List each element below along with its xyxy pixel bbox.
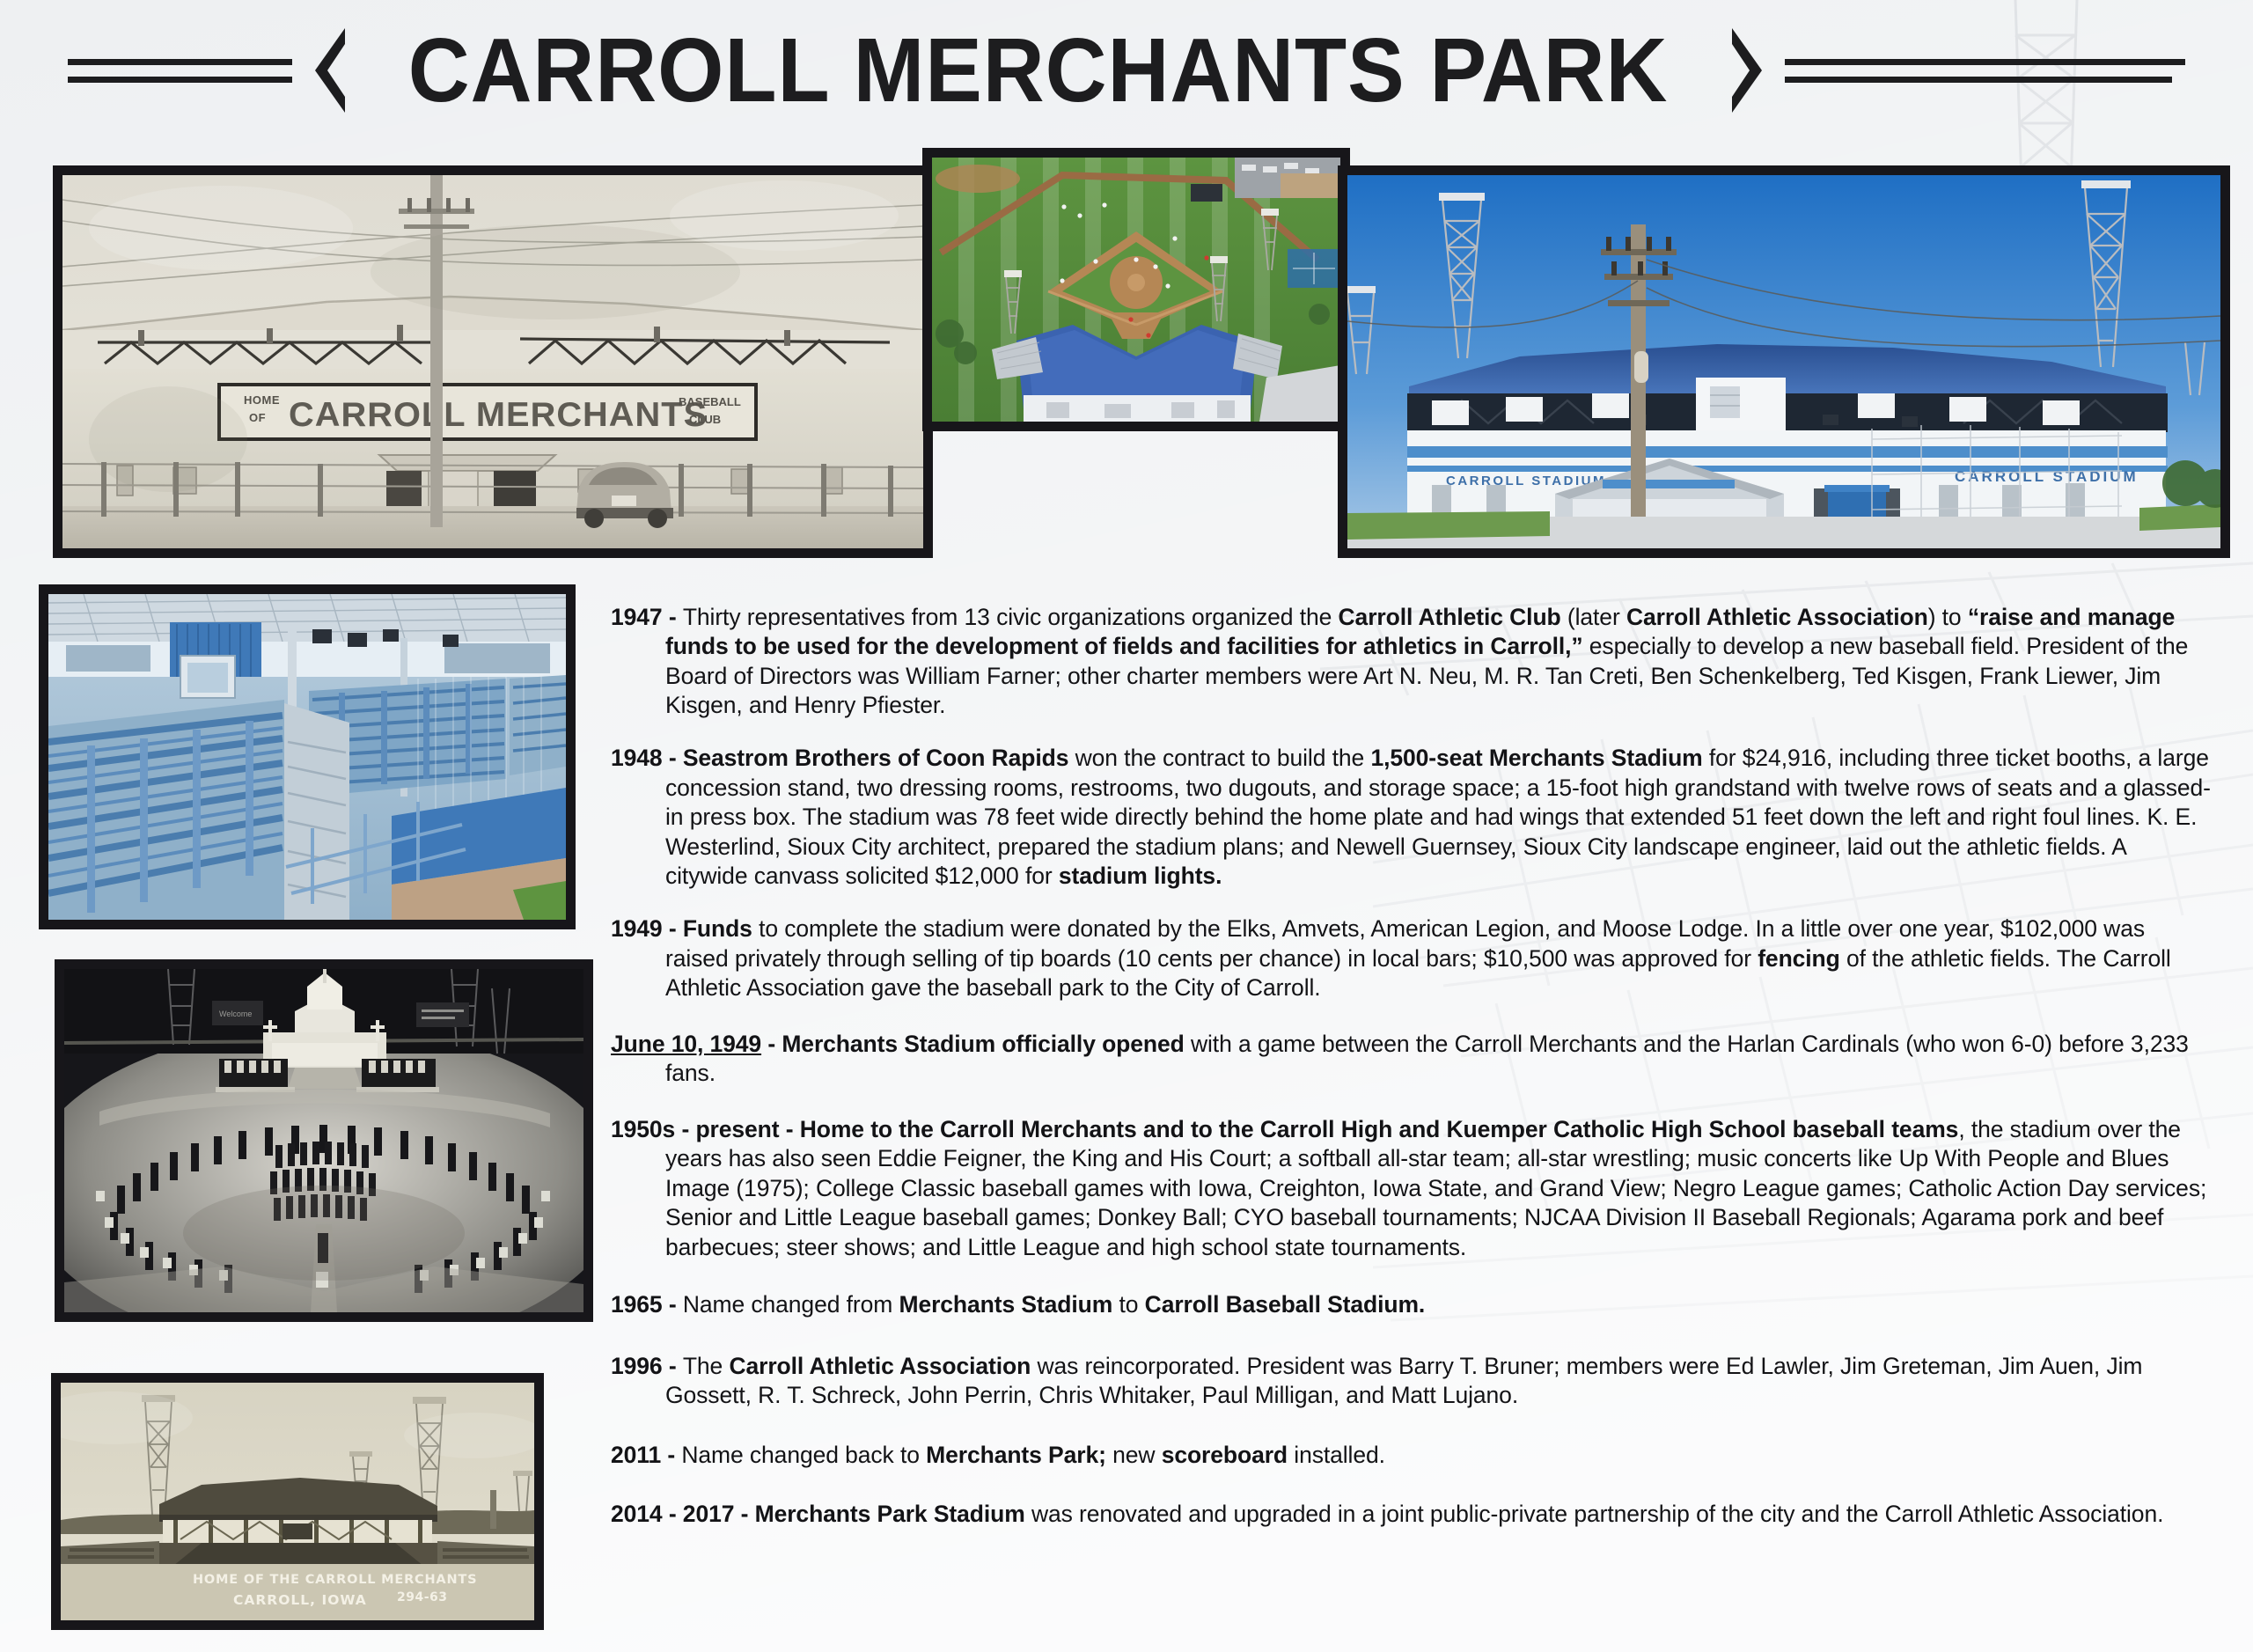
header-rule-right-top <box>1785 59 2185 65</box>
photo-aerial-ballpark-view <box>922 148 1350 431</box>
timeline-entry-1965: 1965 - Name changed from Merchants Stadi… <box>611 1290 2213 1320</box>
timeline-text-column: 1947 - Thirty representatives from 13 ci… <box>611 579 2213 1549</box>
timeline-entry-1996: 1996 - The Carroll Athletic Association … <box>611 1352 2213 1411</box>
postcard-handwriting-number: 294-63 <box>397 1590 448 1604</box>
photo-image-postcard-grandstand: HOME OF THE CARROLL MERCHANTS CARROLL, I… <box>61 1383 534 1620</box>
photo-historic-grandstand-exterior: HOME OF CARROLL MERCHANTS BASEBALL CLUB <box>53 165 933 558</box>
header-rule-left-top <box>68 59 292 65</box>
timeline-entry-2014-2017: 2014 - 2017 - Merchants Park Stadium was… <box>611 1500 2213 1530</box>
timeline-entry-1947: 1947 - Thirty representatives from 13 ci… <box>611 603 2213 721</box>
svg-text:OF: OF <box>249 411 266 424</box>
photo-image-carroll-stadium: CARROLL STADIUM CARROLL STADIUM <box>1347 175 2220 548</box>
photo-image-aerial-ballpark <box>932 158 1340 422</box>
header-rule-right <box>1785 59 2185 83</box>
timeline-entry-june-10-1949: June 10, 1949 - Merchants Stadium offici… <box>611 1030 2213 1089</box>
svg-text:CLUB: CLUB <box>689 413 721 426</box>
svg-text:Welcome: Welcome <box>219 1010 252 1018</box>
chevron-right-icon <box>1732 28 1762 113</box>
photo-catholic-action-day-ceremony: Welcome <box>55 959 593 1322</box>
photo-image-historic-grandstand: HOME OF CARROLL MERCHANTS BASEBALL CLUB <box>62 175 923 548</box>
postcard-handwriting-line1: HOME OF THE CARROLL MERCHANTS <box>193 1573 477 1587</box>
timeline-entry-1949: 1949 - Funds to complete the stadium wer… <box>611 914 2213 1003</box>
header-rule-right-bottom <box>1785 77 2172 83</box>
page-header: CARROLL MERCHANTS PARK <box>0 0 2253 141</box>
timeline-entry-2011: 2011 - Name changed back to Merchants Pa… <box>611 1441 2213 1471</box>
photo-historic-grandstand-postcard: HOME OF THE CARROLL MERCHANTS CARROLL, I… <box>51 1373 544 1630</box>
photo-blue-bleachers-interior <box>39 584 576 929</box>
timeline-entry-1948: 1948 - Seastrom Brothers of Coon Rapids … <box>611 744 2213 892</box>
svg-text:HOME: HOME <box>244 393 280 407</box>
timeline-entry-1950s-present: 1950s - present - Home to the Carroll Me… <box>611 1115 2213 1263</box>
photo-image-blue-bleachers <box>48 594 566 920</box>
photo-carroll-stadium-exterior: CARROLL STADIUM CARROLL STADIUM <box>1338 165 2230 558</box>
header-rule-left-bottom <box>68 77 292 83</box>
postcard-handwriting-line2: CARROLL, IOWA <box>233 1592 367 1608</box>
photo-image-night-ceremony: Welcome <box>64 969 583 1312</box>
svg-text:CARROLL MERCHANTS: CARROLL MERCHANTS <box>289 395 708 434</box>
chevron-left-icon <box>315 28 345 113</box>
svg-text:BASEBALL: BASEBALL <box>679 395 741 408</box>
header-rule-left <box>68 59 292 83</box>
page-title: CARROLL MERCHANTS PARK <box>408 18 1669 122</box>
